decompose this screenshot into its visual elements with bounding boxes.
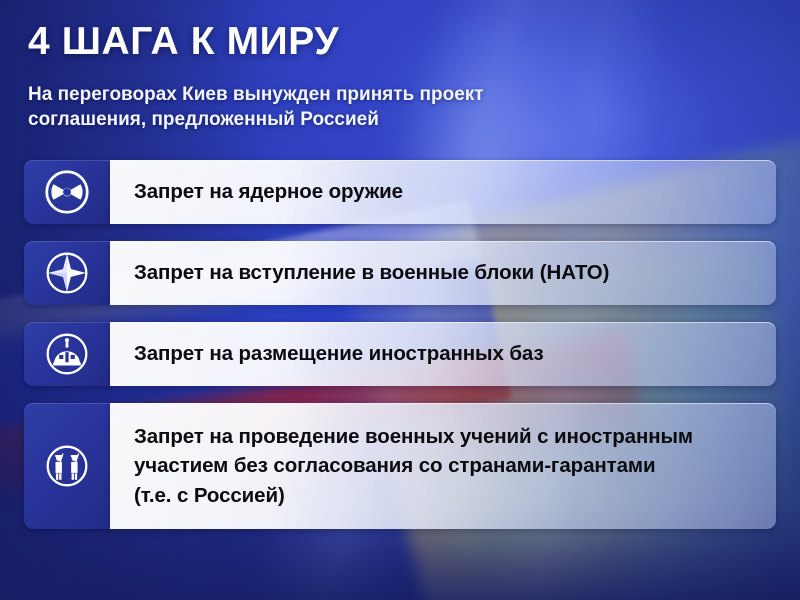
step-4-label-line-3: (т.е. с Россией) [134,481,693,510]
step-row-2: Запрет на вступление в военные блоки (НА… [24,241,776,305]
step-4-label: Запрет на проведение военных учений с ин… [110,422,711,509]
page-title: 4 ШАГА К МИРУ [28,22,339,61]
two-soldiers-icon [44,443,90,489]
step-4-label-line-2: участием без согласования со странами-га… [134,451,693,480]
content-layer: 4 ШАГА К МИРУ На переговорах Киев вынужд… [0,0,800,600]
step-4-label-line-1: Запрет на проведение военных учений с ин… [134,422,693,451]
subtitle-line-2: соглашения, предложенный Россией [28,107,688,132]
step-4-icon-badge [24,403,110,529]
military-base-icon [44,331,90,377]
infographic-canvas: 4 ШАГА К МИРУ На переговорах Киев вынужд… [0,0,800,600]
step-1-label: Запрет на ядерное оружие [110,177,421,206]
step-2-icon-badge [24,241,110,305]
compass-star-icon [44,250,90,296]
page-subtitle: На переговорах Киев вынужден принять про… [28,82,688,132]
step-3-bar: Запрет на размещение иностранных баз [110,322,776,386]
step-1-bar: Запрет на ядерное оружие [110,160,776,224]
step-3-label: Запрет на размещение иностранных баз [110,339,562,368]
step-row-3: Запрет на размещение иностранных баз [24,322,776,386]
subtitle-line-1: На переговорах Киев вынужден принять про… [28,82,688,107]
step-1-icon-badge [24,160,110,224]
steps-list: Запрет на ядерное оружие [24,160,776,546]
step-row-4: Запрет на проведение военных учений с ин… [24,403,776,529]
radiation-icon [44,169,90,215]
step-row-1: Запрет на ядерное оружие [24,160,776,224]
step-2-label: Запрет на вступление в военные блоки (НА… [110,258,627,287]
step-3-icon-badge [24,322,110,386]
step-2-bar: Запрет на вступление в военные блоки (НА… [110,241,776,305]
step-4-bar: Запрет на проведение военных учений с ин… [110,403,776,529]
